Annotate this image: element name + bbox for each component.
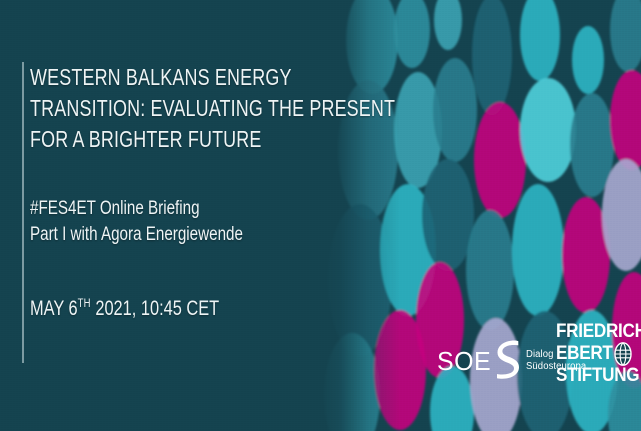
fes-logo: FRIEDRICH EBERT STIFTUNG [556,321,634,389]
event-banner: WESTERN BALKANS ENERGY TRANSITION: EVALU… [0,0,641,431]
vertical-accent-rule [22,62,24,363]
dateline-time: 2021, 10:45 CET [91,297,219,320]
pattern-ellipse [572,26,604,94]
page-title: WESTERN BALKANS ENERGY TRANSITION: EVALU… [30,62,360,155]
dateline-ordinal: TH [78,296,91,310]
pattern-ellipse [512,184,564,316]
subtitle-line-2: Part I with Agora Energiewende [30,222,350,248]
soe-wordmark: SOE [437,348,491,374]
soe-swirl-icon [494,337,520,386]
pattern-ellipse [472,0,512,115]
pattern-ellipse [466,210,514,330]
pattern-ellipse [433,58,477,162]
fes-line-1: FRIEDRICH [556,321,626,343]
subtitle-block: #FES4ET Online Briefing Part I with Agor… [30,196,360,248]
headline-line-2: TRANSITION: EVALUATING THE PRESENT [30,93,358,124]
dateline-date: MAY 6 [30,297,78,320]
pattern-ellipse [474,102,526,218]
text-block: WESTERN BALKANS ENERGY TRANSITION: EVALU… [30,62,360,322]
pattern-ellipse [520,78,576,182]
event-dateline: MAY 6TH 2021, 10:45 CET [30,290,342,322]
headline-line-3: FOR A BRIGHTER FUTURE [30,124,358,155]
pattern-ellipse [422,159,474,271]
fes-globe-icon [614,342,632,371]
subtitle-line-1: #FES4ET Online Briefing [30,196,350,222]
headline-line-1: WESTERN BALKANS ENERGY [30,62,358,93]
